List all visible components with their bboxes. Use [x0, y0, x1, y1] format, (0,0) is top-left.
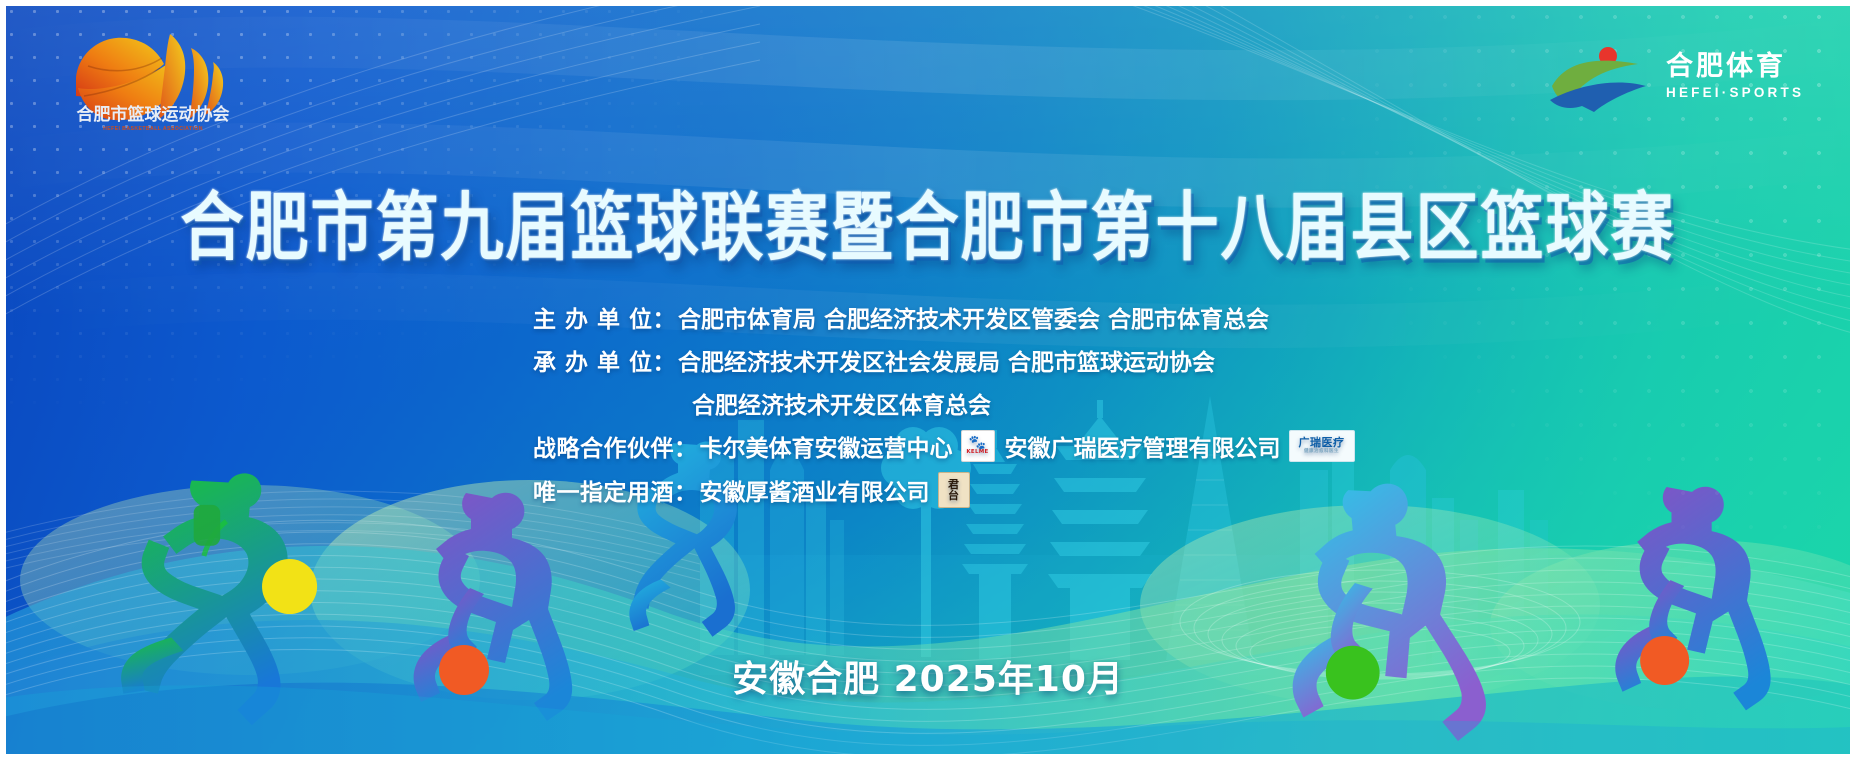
- hefei-sports-text: 合肥体育 HEFEI·SPORTS: [1666, 53, 1804, 100]
- kelme-wordmark: KELME: [966, 449, 988, 455]
- juntai-char-2: 台: [948, 490, 959, 501]
- info-label-strategic-partners: 战略合作伙伴：: [533, 429, 698, 463]
- info-value-coorganizer-cont: 合肥经济技术开发区体育总会: [692, 386, 991, 420]
- info-row-coorganizer-cont: 合肥经济技术开发区体育总会: [0, 386, 1856, 420]
- poster-title: 合肥市第九届篮球联赛暨合肥市第十八届县区篮球赛: [0, 168, 1856, 275]
- hefei-basketball-association-logo: 合肥市篮球运动协会 HEFEI BASKETBALL ASSOCIATION: [58, 22, 248, 132]
- association-logo-mark: 合肥市篮球运动协会 HEFEI BASKETBALL ASSOCIATION: [58, 22, 248, 132]
- kelme-paw-icon: 🐾: [969, 438, 986, 449]
- info-row-designated-liquor: 唯一指定用酒： 安徽厚酱酒业有限公司 君 台: [0, 472, 1856, 508]
- info-value-partner-kelme: 卡尔美体育安徽运营中心: [700, 429, 953, 463]
- info-label-designated-liquor: 唯一指定用酒：: [533, 473, 698, 507]
- guangrui-logo: 广瑞医疗 健康治愈科医生: [1289, 430, 1355, 462]
- info-value-partner-guangrui: 安徽广瑞医疗管理有限公司: [1005, 429, 1281, 463]
- info-row-strategic-partners: 战略合作伙伴： 卡尔美体育安徽运营中心 🐾 KELME 安徽广瑞医疗管理有限公司…: [0, 429, 1856, 463]
- juntai-logo: 君 台: [938, 472, 970, 508]
- info-label-coorganizer: 承 办 单 位：: [533, 343, 676, 377]
- info-row-coorganizer: 承 办 单 位： 合肥经济技术开发区社会发展局 合肥市篮球运动协会: [0, 343, 1856, 377]
- organizer-info-block: 主 办 单 位： 合肥市体育局 合肥经济技术开发区管委会 合肥市体育总会 承 办…: [0, 300, 1856, 517]
- event-date-location: 安徽合肥 2025年10月: [0, 650, 1856, 702]
- association-logo-cn: 合肥市篮球运动协会: [77, 104, 230, 125]
- guangrui-wordmark-cn: 广瑞医疗: [1299, 437, 1345, 449]
- info-label-organizer: 主 办 单 位：: [533, 300, 676, 334]
- info-row-organizer: 主 办 单 位： 合肥市体育局 合肥经济技术开发区管委会 合肥市体育总会: [0, 300, 1856, 334]
- hefei-sports-cn: 合肥体育: [1666, 53, 1804, 80]
- info-value-designated-liquor: 安徽厚酱酒业有限公司: [700, 473, 930, 507]
- poster-canvas: 合肥市篮球运动协会 HEFEI BASKETBALL ASSOCIATION 合…: [0, 0, 1856, 760]
- hefei-sports-logo: 合肥体育 HEFEI·SPORTS: [1546, 40, 1816, 112]
- kelme-logo: 🐾 KELME: [961, 430, 995, 462]
- hefei-sports-mark: [1546, 40, 1656, 112]
- hefei-sports-en: HEFEI·SPORTS: [1666, 86, 1804, 100]
- guangrui-wordmark-sub: 健康治愈科医生: [1304, 449, 1339, 455]
- info-value-organizer: 合肥市体育局 合肥经济技术开发区管委会 合肥市体育总会: [678, 300, 1269, 334]
- info-value-coorganizer: 合肥经济技术开发区社会发展局 合肥市篮球运动协会: [678, 343, 1215, 377]
- association-logo-en: HEFEI BASKETBALL ASSOCIATION: [103, 126, 203, 132]
